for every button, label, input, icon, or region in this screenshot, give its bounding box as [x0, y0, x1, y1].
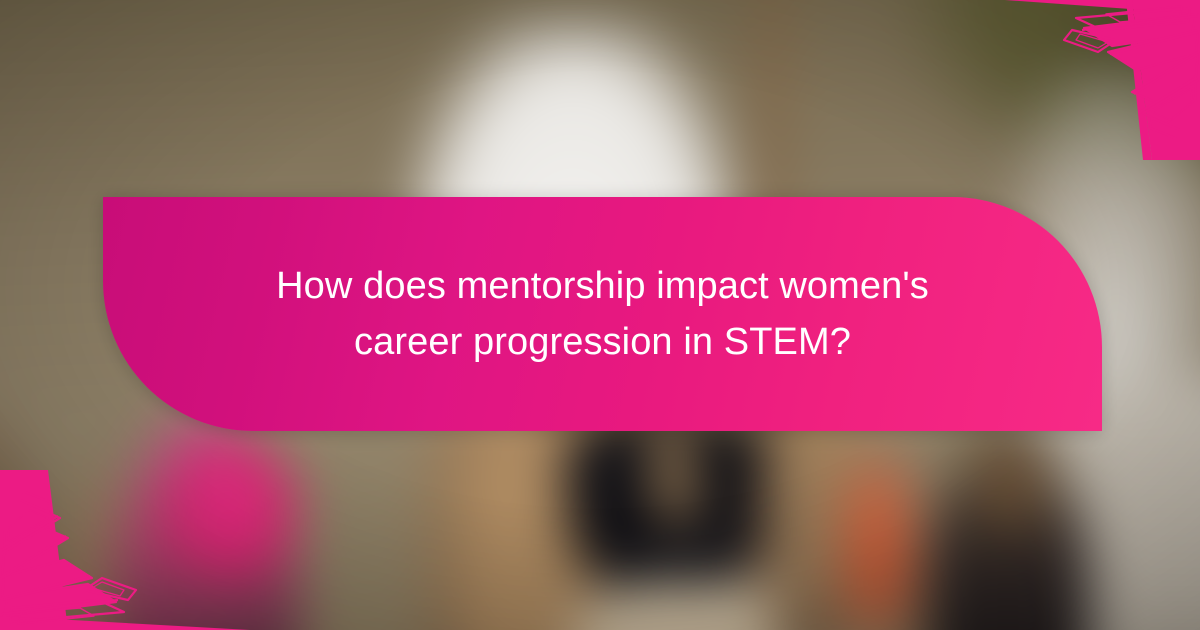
headline-banner: How does mentorship impact women's caree…	[103, 197, 1102, 431]
question-card: How does mentorship impact women's caree…	[0, 0, 1200, 630]
headline-text: How does mentorship impact women's caree…	[183, 258, 1023, 370]
